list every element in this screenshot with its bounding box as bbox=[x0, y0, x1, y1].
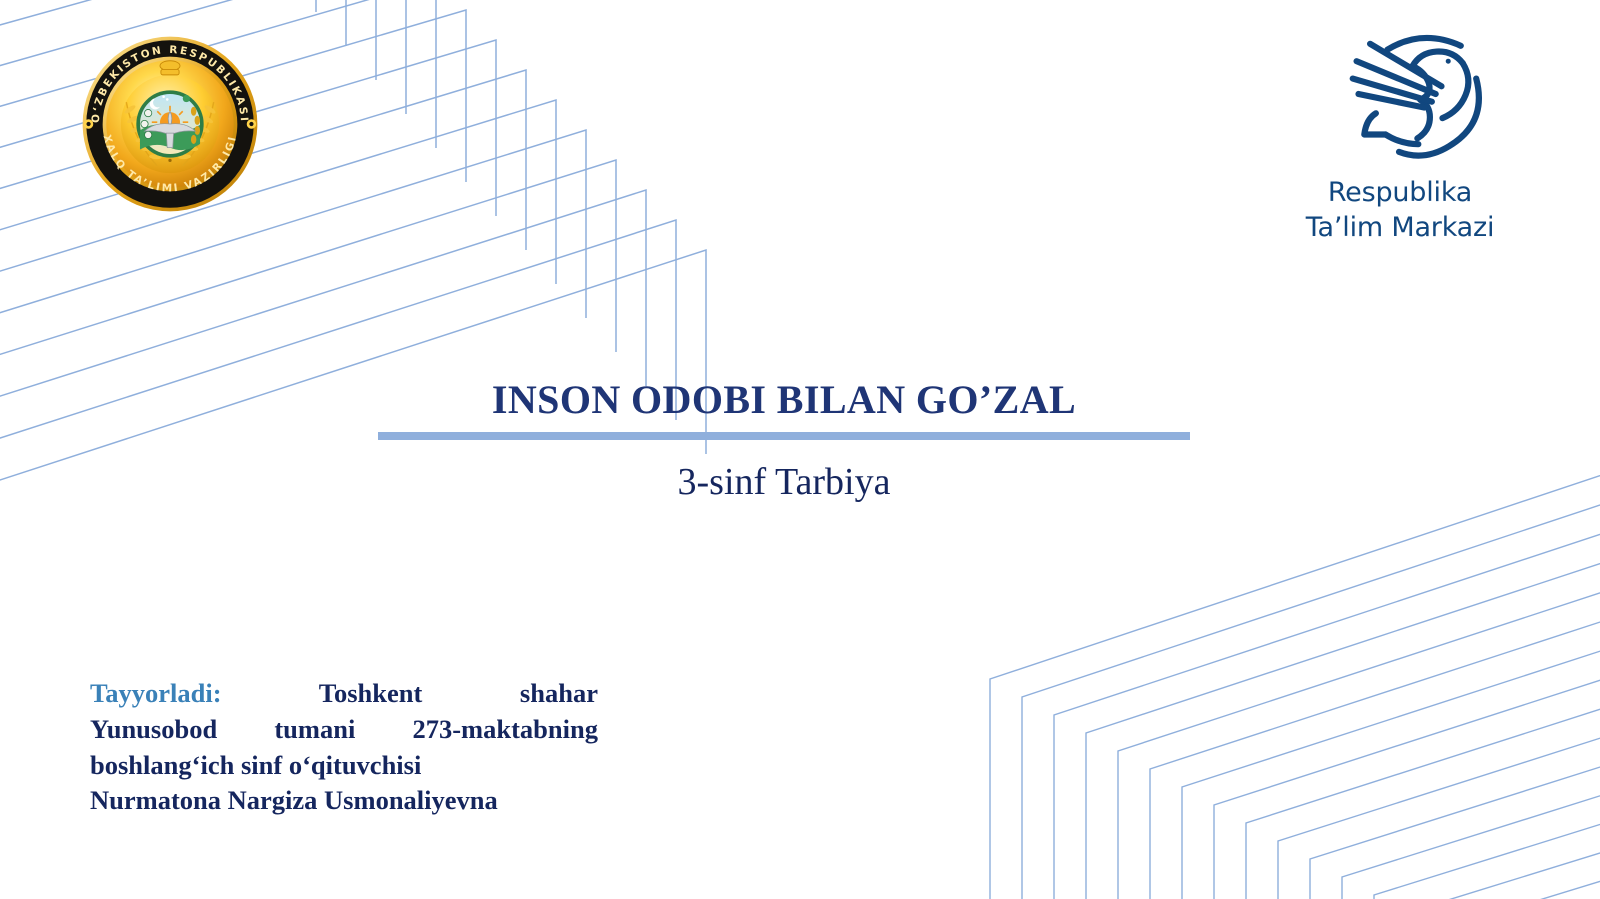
page-title: INSON ODOBI BILAN GO’ZAL bbox=[378, 378, 1190, 423]
presentation-slide: O‘ZBEKISTON RESPUBLIKASI XALQ TA’LIMI VA… bbox=[0, 0, 1600, 899]
credits-line-3: boshlang‘ich sinf o‘qituvchisi bbox=[90, 748, 598, 784]
dove-bird-icon bbox=[1318, 26, 1482, 162]
logo-line-1: Respublika bbox=[1290, 176, 1510, 211]
decorative-chevron-pattern-bottom-right bbox=[470, 259, 1600, 899]
author-credits-block: Tayyorladi: Toshkent shahar Yunusobod tu… bbox=[90, 676, 598, 819]
credits-line-1: Tayyorladi: Toshkent shahar bbox=[90, 676, 598, 712]
credits-line-2: Yunusobod tumani 273-maktabning bbox=[90, 712, 598, 748]
credits-line-1-rest: Toshkent shahar bbox=[319, 678, 598, 708]
logo-line-2: Ta’lim Markazi bbox=[1290, 211, 1510, 246]
credits-line-4: Nurmatona Nargiza Usmonaliyevna bbox=[90, 783, 598, 819]
respublika-talim-markazi-logo: Respublika Ta’lim Markazi bbox=[1290, 26, 1510, 245]
uzbekistan-ministry-emblem-icon: O‘ZBEKISTON RESPUBLIKASI XALQ TA’LIMI VA… bbox=[79, 33, 261, 215]
title-block: INSON ODOBI BILAN GO’ZAL 3-sinf Tarbiya bbox=[378, 378, 1190, 505]
credits-label: Tayyorladi: bbox=[90, 678, 222, 708]
subtitle: 3-sinf Tarbiya bbox=[378, 460, 1190, 506]
title-underline-rule bbox=[378, 432, 1190, 440]
